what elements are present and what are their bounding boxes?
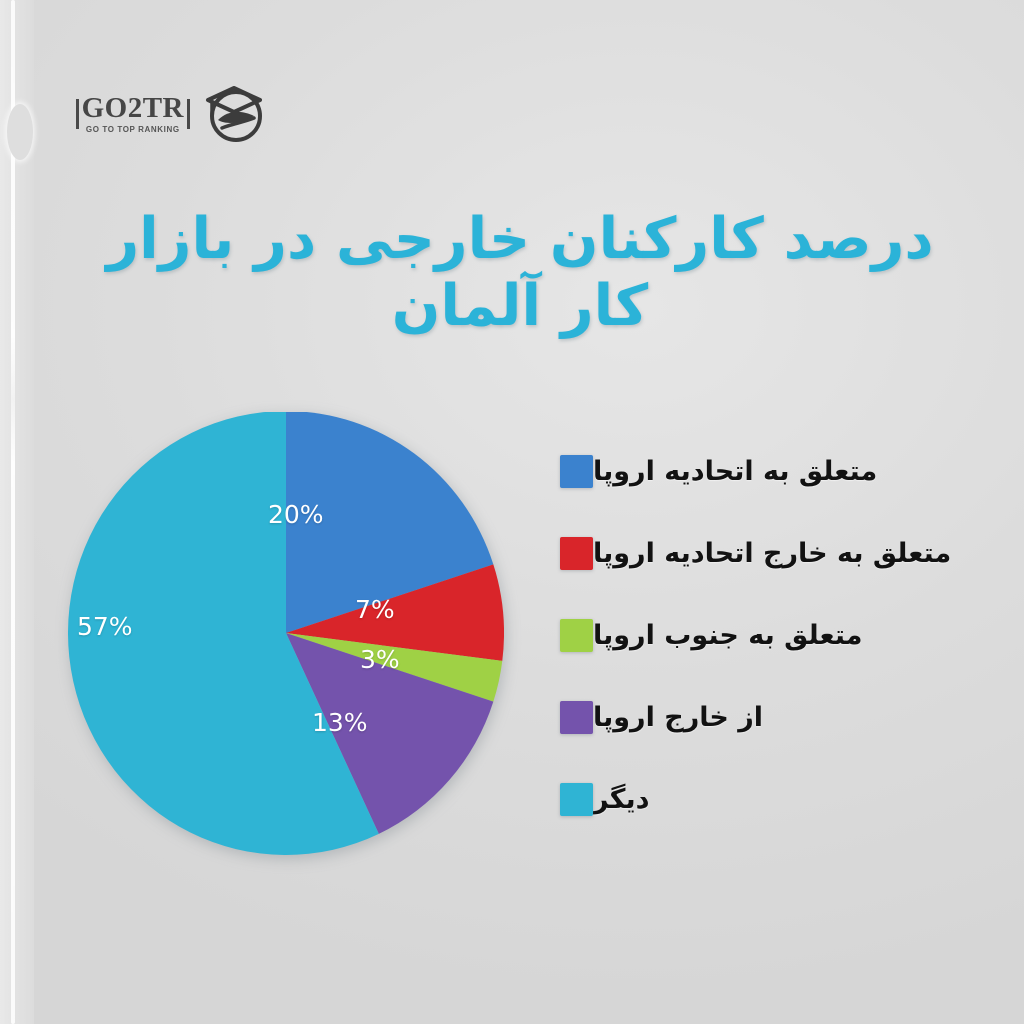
- legend-item[interactable]: متعلق به خارج اتحادیه اروپا: [560, 512, 980, 594]
- pie-slice-value-label: 7%: [355, 595, 395, 624]
- pie-slice-value-label: 20%: [268, 500, 324, 529]
- legend-item[interactable]: متعلق به اتحادیه اروپا: [560, 430, 980, 512]
- pie-chart: [68, 412, 504, 856]
- brand-name: GO2TR: [82, 94, 184, 123]
- legend-color-swatch: [560, 619, 593, 652]
- paper-edge-notch: [7, 104, 33, 160]
- paper-edge-decoration: [0, 0, 34, 1024]
- legend-color-swatch: [560, 537, 593, 570]
- wordmark-words: GO2TR GO TO TOP RANKING: [82, 94, 184, 134]
- graduation-cap-icon: [198, 82, 270, 146]
- legend-item-label: متعلق به خارج اتحادیه اروپا: [593, 538, 951, 569]
- pie-slice-value-label: 13%: [312, 708, 368, 737]
- legend-item[interactable]: دیگر: [560, 758, 980, 840]
- pie-chart-svg: [68, 412, 504, 856]
- infographic-canvas: GO2TR GO TO TOP RANKING درصد کارکنان خار…: [0, 0, 1024, 1024]
- legend-item-label: متعلق به جنوب اروپا: [593, 620, 862, 651]
- legend-color-swatch: [560, 455, 593, 488]
- legend-color-swatch: [560, 701, 593, 734]
- wordmark-divider-left: [76, 99, 79, 129]
- legend-item-label: متعلق به اتحادیه اروپا: [593, 456, 877, 487]
- pie-slice-value-label: 57%: [77, 612, 133, 641]
- legend-item[interactable]: متعلق به جنوب اروپا: [560, 594, 980, 676]
- wordmark-divider-right: [187, 99, 190, 129]
- chart-legend: متعلق به اتحادیه اروپامتعلق به خارج اتحا…: [560, 430, 980, 840]
- legend-item[interactable]: از خارج اروپا: [560, 676, 980, 758]
- legend-color-swatch: [560, 783, 593, 816]
- brand-wordmark: GO2TR GO TO TOP RANKING: [76, 94, 190, 134]
- legend-item-label: از خارج اروپا: [593, 702, 763, 733]
- brand-logo: GO2TR GO TO TOP RANKING: [60, 78, 270, 150]
- pie-slice-value-label: 3%: [360, 645, 400, 674]
- page-title: درصد کارکنان خارجی در بازار کار آلمان: [60, 206, 980, 341]
- pie-slice-group: [68, 412, 504, 855]
- brand-tagline: GO TO TOP RANKING: [86, 126, 180, 134]
- legend-item-label: دیگر: [593, 784, 650, 815]
